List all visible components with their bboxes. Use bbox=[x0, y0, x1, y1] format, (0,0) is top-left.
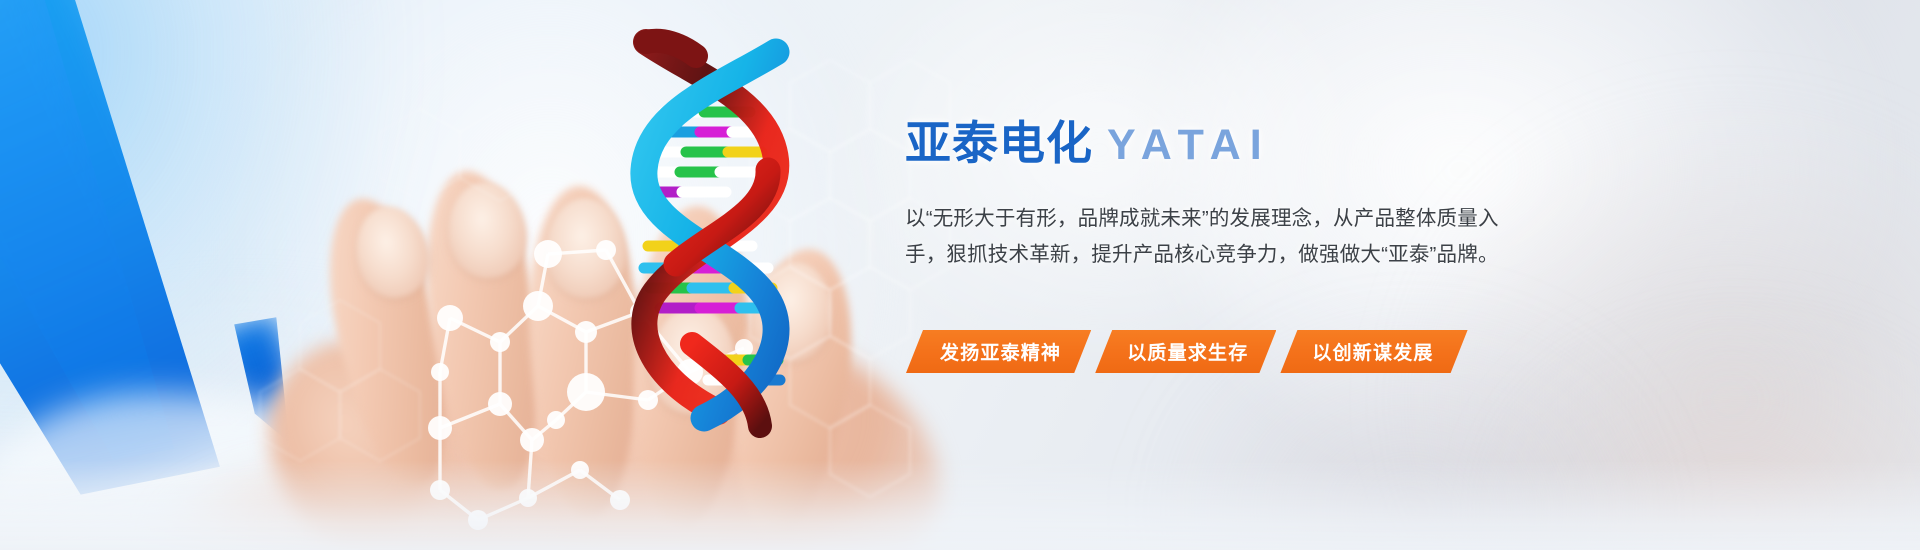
page-title: 亚泰电化YATAI bbox=[905, 118, 1605, 169]
banner-text-block: 亚泰电化YATAI 以“无形大于有形，品牌成就未来”的发展理念，从产品整体质量入… bbox=[905, 118, 1605, 272]
slogan-tag-2-label: 以质量求生存 bbox=[1127, 338, 1248, 365]
headline-english: YATAI bbox=[1107, 121, 1271, 169]
dna-double-helix-icon bbox=[600, 20, 840, 440]
bottom-fade-overlay bbox=[0, 460, 1920, 550]
headline-chinese: 亚泰电化 bbox=[905, 117, 1093, 169]
banner-description: 以“无形大于有形，品牌成就未来”的发展理念，从产品整体质量入 手，狠抓技术革新，… bbox=[905, 201, 1505, 272]
hero-banner: 亚泰电化YATAI 以“无形大于有形，品牌成就未来”的发展理念，从产品整体质量入… bbox=[0, 0, 1920, 550]
slogan-tag-1[interactable]: 发扬亚泰精神 bbox=[906, 330, 1091, 373]
slogan-tag-1-label: 发扬亚泰精神 bbox=[940, 338, 1061, 365]
slogan-tag-3-label: 以创新谋发展 bbox=[1312, 338, 1433, 365]
slogan-tag-3[interactable]: 以创新谋发展 bbox=[1280, 330, 1467, 373]
slogan-tag-2[interactable]: 以质量求生存 bbox=[1095, 330, 1276, 373]
slogan-tag-group: 发扬亚泰精神 以质量求生存 以创新谋发展 bbox=[906, 330, 1472, 373]
description-line-1: 以“无形大于有形，品牌成就未来”的发展理念，从产品整体质量入 bbox=[905, 201, 1505, 236]
description-line-2: 手，狠抓技术革新，提升产品核心竞争力，做强做大“亚泰”品牌。 bbox=[905, 237, 1505, 272]
